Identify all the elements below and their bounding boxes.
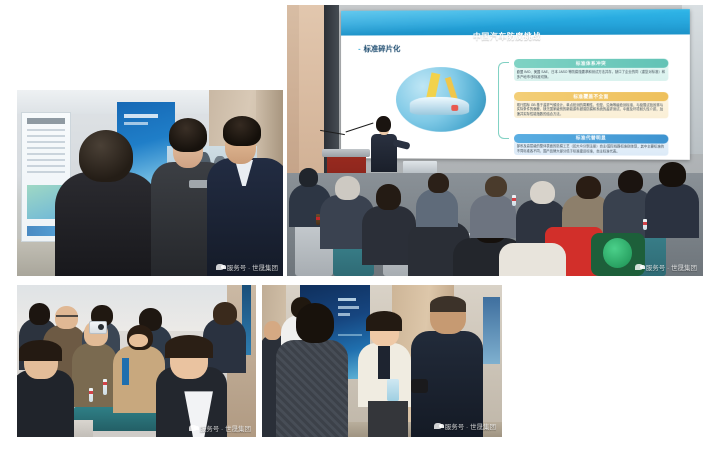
banner-text-line (338, 298, 356, 301)
audience-head (29, 303, 51, 324)
person-man-right-hair (223, 116, 261, 146)
slide-subtitle-dash: - (358, 45, 360, 54)
audience-head (576, 176, 601, 199)
slide-subtitle-text: 标准碎片化 (364, 44, 401, 53)
smartphone (89, 321, 107, 334)
podium-top (322, 149, 370, 158)
jacket-placket (378, 346, 390, 379)
audience-person (470, 195, 516, 238)
banner-small-line (338, 334, 362, 336)
person-checked-suit (276, 340, 348, 437)
water-bottle (89, 388, 93, 402)
jacket-logo (189, 180, 209, 188)
slide-box-2: 标准覆盖不全面 现行国标 GB 基于盐雾气候设计，单点检测的周期性，但是、沿海等… (514, 92, 669, 119)
person-woman-back-hair (79, 130, 133, 182)
poster-line (27, 141, 65, 143)
speaker-hair (376, 116, 390, 132)
slide-box-3-body: 部系及高层级的整体表面的防腐工艺（如大众分别注册）自主/国际线路标准则体现，其中… (514, 143, 669, 156)
banner-title-line (124, 114, 158, 118)
poster-line (27, 159, 65, 161)
poster-line (27, 171, 65, 173)
audience-head (485, 176, 508, 198)
audience-head (376, 184, 401, 210)
foreground-hair-right (165, 335, 213, 358)
person-woman-back-body (55, 172, 159, 276)
audience-person (645, 184, 699, 238)
banner-text-line (338, 306, 359, 309)
banner-text-line (338, 313, 351, 316)
poster-line (27, 153, 65, 155)
photo-bottom-right[interactable]: 服务号 · 世晟集团 (262, 285, 502, 437)
person-far-left-head (264, 321, 281, 339)
audience-head-gray-hair (335, 176, 360, 200)
audience-head (659, 162, 686, 186)
audience-head (428, 173, 449, 193)
brace-connector (498, 63, 509, 139)
tea-cup (316, 214, 320, 225)
foreground-person-left (17, 370, 74, 437)
foreground-hair-left (19, 340, 62, 361)
slide-box-2-body: 现行国标 GB 基于盐雾气候设计，单点检测的周期性，但是、沿海等级检测标准，与极… (514, 102, 669, 119)
photo-top-left[interactable]: 服务号 · 世晟集团 (17, 90, 283, 276)
held-phone (411, 379, 428, 393)
speaker-body (371, 134, 397, 172)
slide-box-1-body: 欧盟 IMO、美国 SAE、日本 JASO 等防腐蚀要求和测试方法并存，缺口了企… (514, 69, 669, 81)
water-bottle (103, 379, 107, 395)
poster-line (27, 165, 65, 167)
wall-screen (483, 297, 500, 364)
audience-head (213, 302, 237, 325)
lanyard (122, 358, 129, 385)
sparks (452, 105, 459, 111)
water-bottle (512, 195, 516, 206)
audience-head-gray-hair (530, 181, 555, 204)
photo-bottom-left[interactable]: 服务号 · 世晟集团 (17, 285, 256, 437)
poster-line (27, 129, 65, 131)
person-right-hair (430, 296, 466, 313)
car-body (410, 97, 469, 115)
slide-title: 中国汽车防腐挑战 (473, 31, 541, 42)
banner-sub-line (124, 122, 148, 125)
slide-subtitle: -标准碎片化 (358, 43, 400, 54)
person-checked-suit-head (296, 303, 334, 343)
slide-box-3: 标准代替明显 部系及高层级的整体表面的防腐工艺（如大众分别注册）自主/国际线路标… (514, 134, 669, 156)
audience-person (416, 189, 458, 227)
audience-head (299, 168, 318, 187)
audience-person-light-coat (499, 243, 566, 276)
audience-head (618, 170, 643, 193)
glasses-icon (56, 315, 78, 317)
audience-person-photographer (72, 343, 117, 407)
slide-box-1: 标准体系冲突 欧盟 IMO、美国 SAE、日本 JASO 等防腐蚀要求和测试方法… (514, 59, 669, 81)
poster-line (27, 147, 65, 149)
poster-heading (27, 118, 65, 124)
person-man-center-hair (169, 118, 207, 152)
wood-wall-left-edge (287, 5, 299, 200)
audience-head (55, 306, 78, 329)
photo-top-right[interactable]: 中国汽车防腐挑战 -标准碎片化 标准体系冲突 欧盟 IMO、美国 SAE、日本 … (287, 5, 703, 276)
slide-illustration (396, 67, 486, 132)
globe-graphic (603, 238, 632, 268)
poster-line (27, 135, 65, 137)
water-bottle (643, 219, 647, 230)
woman-skirt (368, 401, 409, 437)
water-bottle (387, 379, 399, 400)
person-woman-hair (366, 311, 402, 331)
